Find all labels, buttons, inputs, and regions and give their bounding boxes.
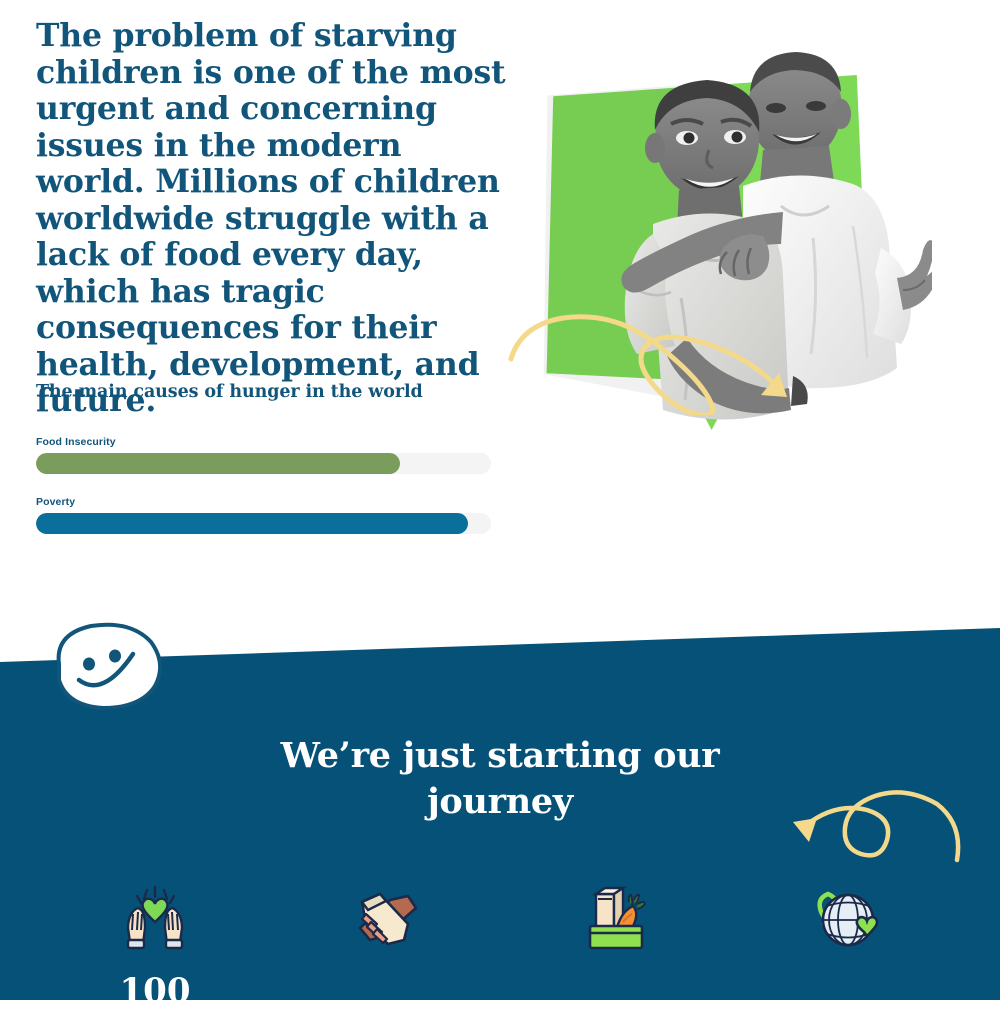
bar-track-poverty xyxy=(36,513,491,534)
journey-heading: We’re just starting our journey xyxy=(230,733,770,825)
stat-number-1: 100 xyxy=(120,974,191,1008)
looping-arrow-left-icon xyxy=(775,782,965,872)
bar-row-food-insecurity: Food Insecurity xyxy=(36,436,491,474)
bar-row-poverty: Poverty xyxy=(36,496,491,534)
smiley-face-blob-icon xyxy=(47,620,169,710)
stats-row: 100 xyxy=(40,880,960,1008)
bar-label-poverty: Poverty xyxy=(36,496,491,508)
causes-subheading: The main causes of hunger in the world xyxy=(36,381,423,403)
bar-fill-food-insecurity xyxy=(36,453,400,474)
stat-column-4 xyxy=(730,880,960,1008)
bar-fill-poverty xyxy=(36,513,468,534)
page-headline: The problem of starving children is one … xyxy=(36,18,506,420)
hero-text-block: The problem of starving children is one … xyxy=(36,18,506,420)
hands-holding-heart-icon xyxy=(115,880,195,960)
bar-track-food-insecurity xyxy=(36,453,491,474)
children-hugging-photo xyxy=(567,38,932,490)
hero-section: The problem of starving children is one … xyxy=(0,0,1000,620)
bar-label-food-insecurity: Food Insecurity xyxy=(36,436,491,448)
looping-arrow-right-icon xyxy=(505,285,805,415)
stat-column-2 xyxy=(270,880,500,1008)
food-crate-icon xyxy=(575,880,655,960)
stat-column-3 xyxy=(500,880,730,1008)
hero-image-collage xyxy=(505,30,975,490)
helping-hands-icon xyxy=(345,880,425,960)
globe-ribbon-heart-icon xyxy=(805,880,885,960)
stat-column-1: 100 xyxy=(40,880,270,1008)
causes-bar-chart: Food Insecurity Poverty xyxy=(36,436,491,556)
